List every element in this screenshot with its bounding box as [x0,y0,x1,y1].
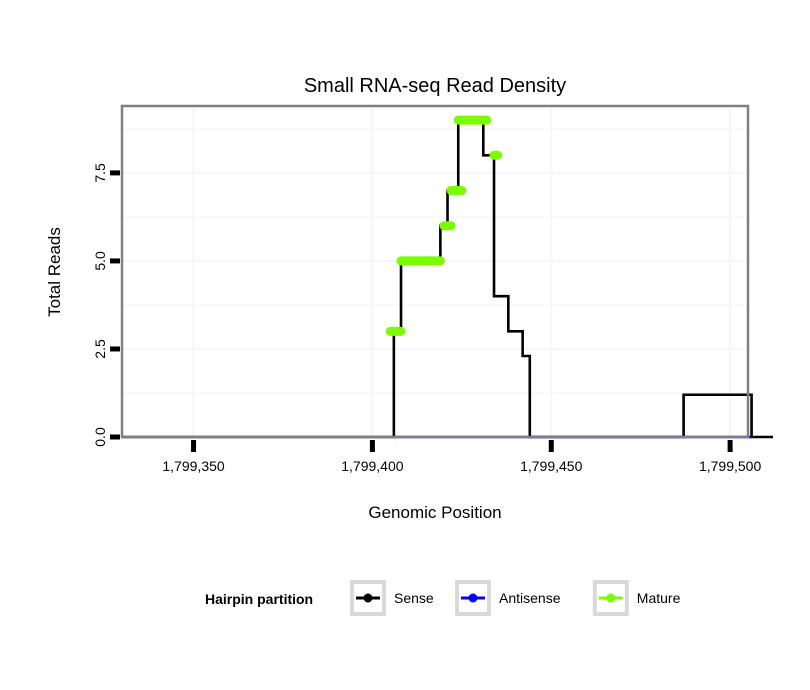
x-axis-tick-label: 1,799,350 [162,458,224,474]
y-axis-tick-label: 0.0 [92,427,108,447]
panel-background [122,106,748,437]
x-axis-tick-label: 1,799,500 [699,458,761,474]
plot-panel [122,106,773,437]
legend-item-label: Sense [394,590,434,606]
x-axis-title: Genomic Position [368,503,501,522]
legend-key-point [469,594,478,603]
y-axis-title: Total Reads [45,227,64,317]
y-axis-tick-label: 5.0 [92,251,108,271]
legend-key-point [606,594,615,603]
legend-key-point [364,594,373,603]
chart-container: Small RNA-seq Read Density 0.02.55.07.5 … [0,0,810,690]
chart-title: Small RNA-seq Read Density [304,75,566,97]
y-axis-tick-label: 7.5 [92,163,108,183]
legend-title: Hairpin partition [205,591,313,607]
x-axis-tick-label: 1,799,400 [341,458,403,474]
x-axis-tick-label: 1,799,450 [520,458,582,474]
read-density-chart: Small RNA-seq Read Density 0.02.55.07.5 … [0,0,810,690]
legend-item-label: Antisense [499,590,561,606]
legend-item-label: Mature [637,590,681,606]
y-axis-tick-label: 2.5 [92,339,108,359]
